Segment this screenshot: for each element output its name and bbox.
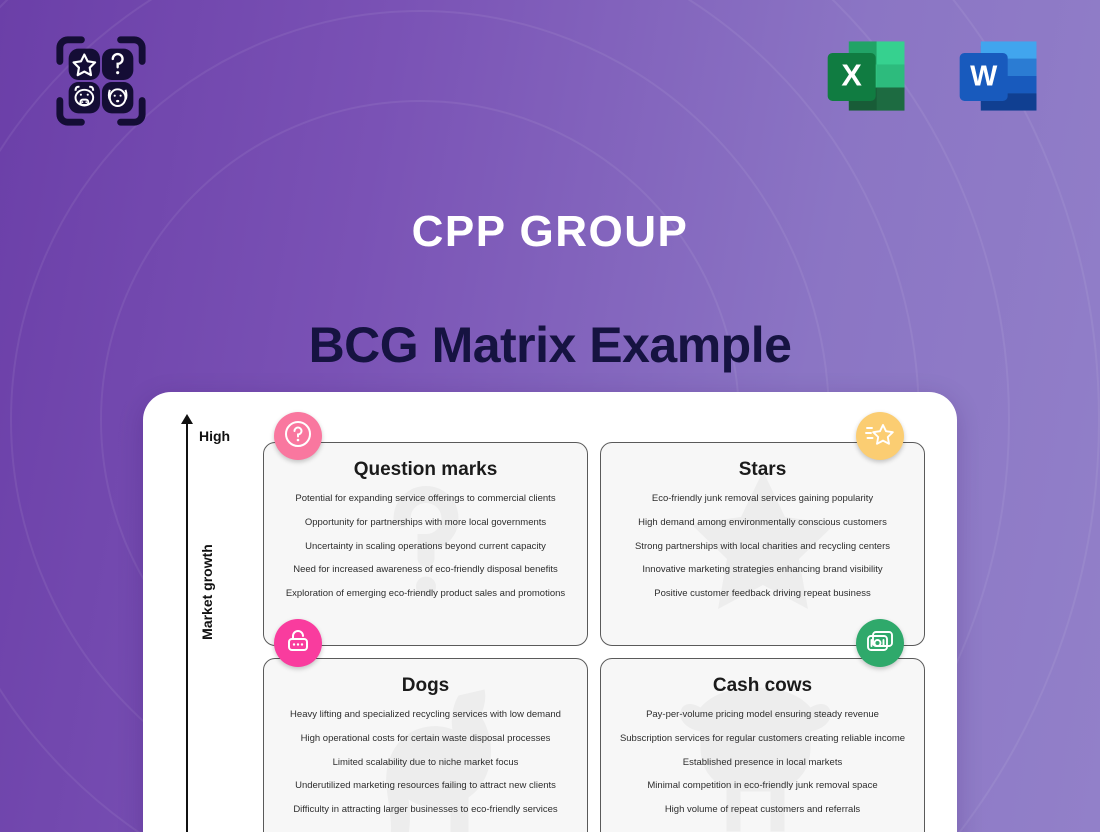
bcg-matrix-logo-icon (52, 32, 150, 130)
quadrant-item-list: Eco-friendly junk removal services gaini… (615, 493, 910, 601)
question-mark-icon (283, 419, 313, 454)
list-item: Need for increased awareness of eco-frie… (278, 564, 573, 577)
axis-vertical-label: Market growth (199, 522, 215, 662)
list-item: Difficulty in attracting larger business… (278, 804, 573, 817)
list-item: Strong partnerships with local charities… (615, 541, 910, 554)
office-app-icons: X W (820, 28, 1048, 124)
list-item: Established presence in local markets (615, 757, 910, 770)
bcg-quadrant-grid: Question marks Potential for expanding s… (263, 442, 925, 832)
quadrant-title: Stars (615, 459, 910, 481)
list-item: Uncertainty in scaling operations beyond… (278, 541, 573, 554)
quadrant-stars[interactable]: Stars Eco-friendly junk removal services… (600, 442, 925, 646)
axis-high-label: High (199, 428, 230, 444)
quadrant-item-list: Pay-per-volume pricing model ensuring st… (615, 709, 910, 817)
svg-text:X: X (841, 58, 862, 93)
list-item: High demand among environmentally consci… (615, 517, 910, 530)
list-item: Positive customer feedback driving repea… (615, 588, 910, 601)
market-growth-axis: High Market growth (181, 414, 241, 832)
list-item: Subscription services for regular custom… (615, 733, 910, 746)
word-icon[interactable]: W (952, 28, 1048, 124)
list-item: Potential for expanding service offering… (278, 493, 573, 506)
badge-dogs[interactable] (274, 619, 322, 667)
list-item: Pay-per-volume pricing model ensuring st… (615, 709, 910, 722)
list-item: Minimal competition in eco-friendly junk… (615, 780, 910, 793)
page-title: BCG Matrix Example (0, 316, 1100, 374)
quadrant-cash-cows[interactable]: Cash cows Pay-per-volume pricing model e… (600, 658, 925, 832)
list-item: Underutilized marketing resources failin… (278, 780, 573, 793)
list-item: Innovative marketing strategies enhancin… (615, 564, 910, 577)
list-item: High operational costs for certain waste… (278, 733, 573, 746)
quadrant-item-list: Heavy lifting and specialized recycling … (278, 709, 573, 817)
list-item: Eco-friendly junk removal services gaini… (615, 493, 910, 506)
badge-cash-cows[interactable] (856, 619, 904, 667)
quadrant-item-list: Potential for expanding service offering… (278, 493, 573, 601)
badge-stars[interactable] (856, 412, 904, 460)
shooting-star-icon (864, 419, 896, 454)
quadrant-title: Dogs (278, 675, 573, 697)
banknotes-icon (864, 627, 896, 660)
brand-title: CPP GROUP (0, 207, 1100, 257)
list-item: Opportunity for partnerships with more l… (278, 517, 573, 530)
badge-question-marks[interactable] (274, 412, 322, 460)
quadrant-title: Cash cows (615, 675, 910, 697)
list-item: Exploration of emerging eco-friendly pro… (278, 588, 573, 601)
matrix-card: High Market growth Question marks Potent… (143, 392, 957, 832)
list-item: Limited scalability due to niche market … (278, 757, 573, 770)
excel-icon[interactable]: X (820, 28, 916, 124)
quadrant-question-marks[interactable]: Question marks Potential for expanding s… (263, 442, 588, 646)
axis-line (186, 422, 188, 832)
list-item: Heavy lifting and specialized recycling … (278, 709, 573, 722)
svg-text:W: W (970, 61, 998, 93)
padlock-icon (283, 626, 313, 661)
slide-canvas: X W CPP GROUP BCG Matrix Example High Ma… (0, 0, 1100, 832)
list-item: High volume of repeat customers and refe… (615, 804, 910, 817)
quadrant-title: Question marks (278, 459, 573, 481)
quadrant-dogs[interactable]: Dogs Heavy lifting and specialized recyc… (263, 658, 588, 832)
